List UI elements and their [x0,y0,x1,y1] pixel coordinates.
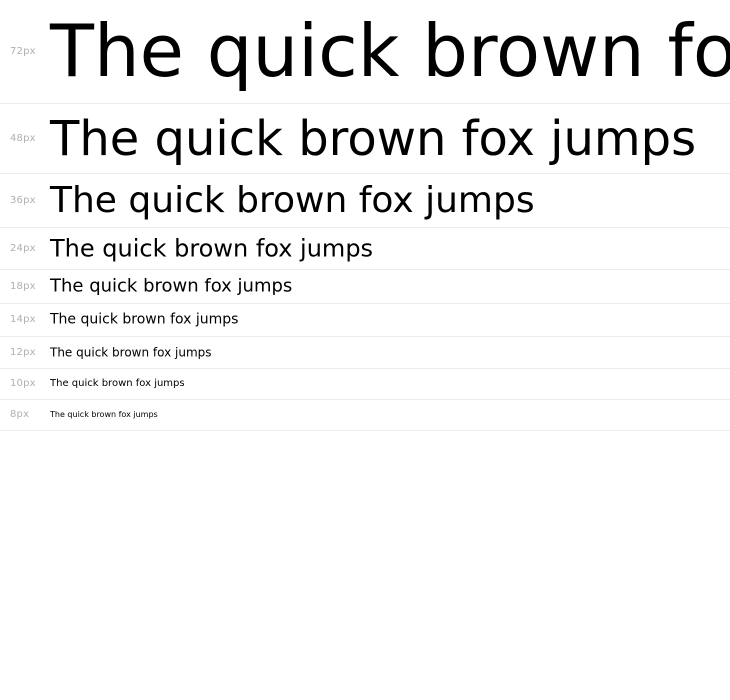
specimen-row-24px: 24px The quick brown fox jumps [0,228,730,270]
sample-text-12px: The quick brown fox jumps [50,346,212,359]
sample-text-10px: The quick brown fox jumps [50,379,185,390]
size-label-10px: 10px [10,379,36,389]
specimen-row-8px: 8px The quick brown fox jumps [0,400,730,431]
sample-text-14px: The quick brown fox jumps [50,313,238,328]
specimen-row-12px: 12px The quick brown fox jumps [0,337,730,369]
size-label-24px: 24px [10,244,36,254]
specimen-row-14px: 14px The quick brown fox jumps [0,304,730,337]
specimen-row-18px: 18px The quick brown fox jumps [0,270,730,304]
sample-text-8px: The quick brown fox jumps [50,411,158,419]
size-label-36px: 36px [10,196,36,206]
specimen-row-72px: 72px The quick brown fox jumps [0,0,730,104]
specimen-row-10px: 10px The quick brown fox jumps [0,369,730,400]
size-label-18px: 18px [10,282,36,292]
specimen-row-48px: 48px The quick brown fox jumps [0,104,730,174]
sample-text-18px: The quick brown fox jumps [50,277,292,296]
sample-text-72px: The quick brown fox jumps [50,14,730,90]
size-label-14px: 14px [10,315,36,325]
specimen-row-36px: 36px The quick brown fox jumps [0,174,730,228]
font-specimen-waterfall: 72px The quick brown fox jumps 48px The … [0,0,730,431]
sample-text-36px: The quick brown fox jumps [50,182,535,220]
size-label-48px: 48px [10,134,36,144]
size-label-8px: 8px [10,410,29,420]
size-label-12px: 12px [10,348,36,358]
sample-text-48px: The quick brown fox jumps [50,113,696,163]
size-label-72px: 72px [10,47,36,57]
sample-text-24px: The quick brown fox jumps [50,236,373,261]
